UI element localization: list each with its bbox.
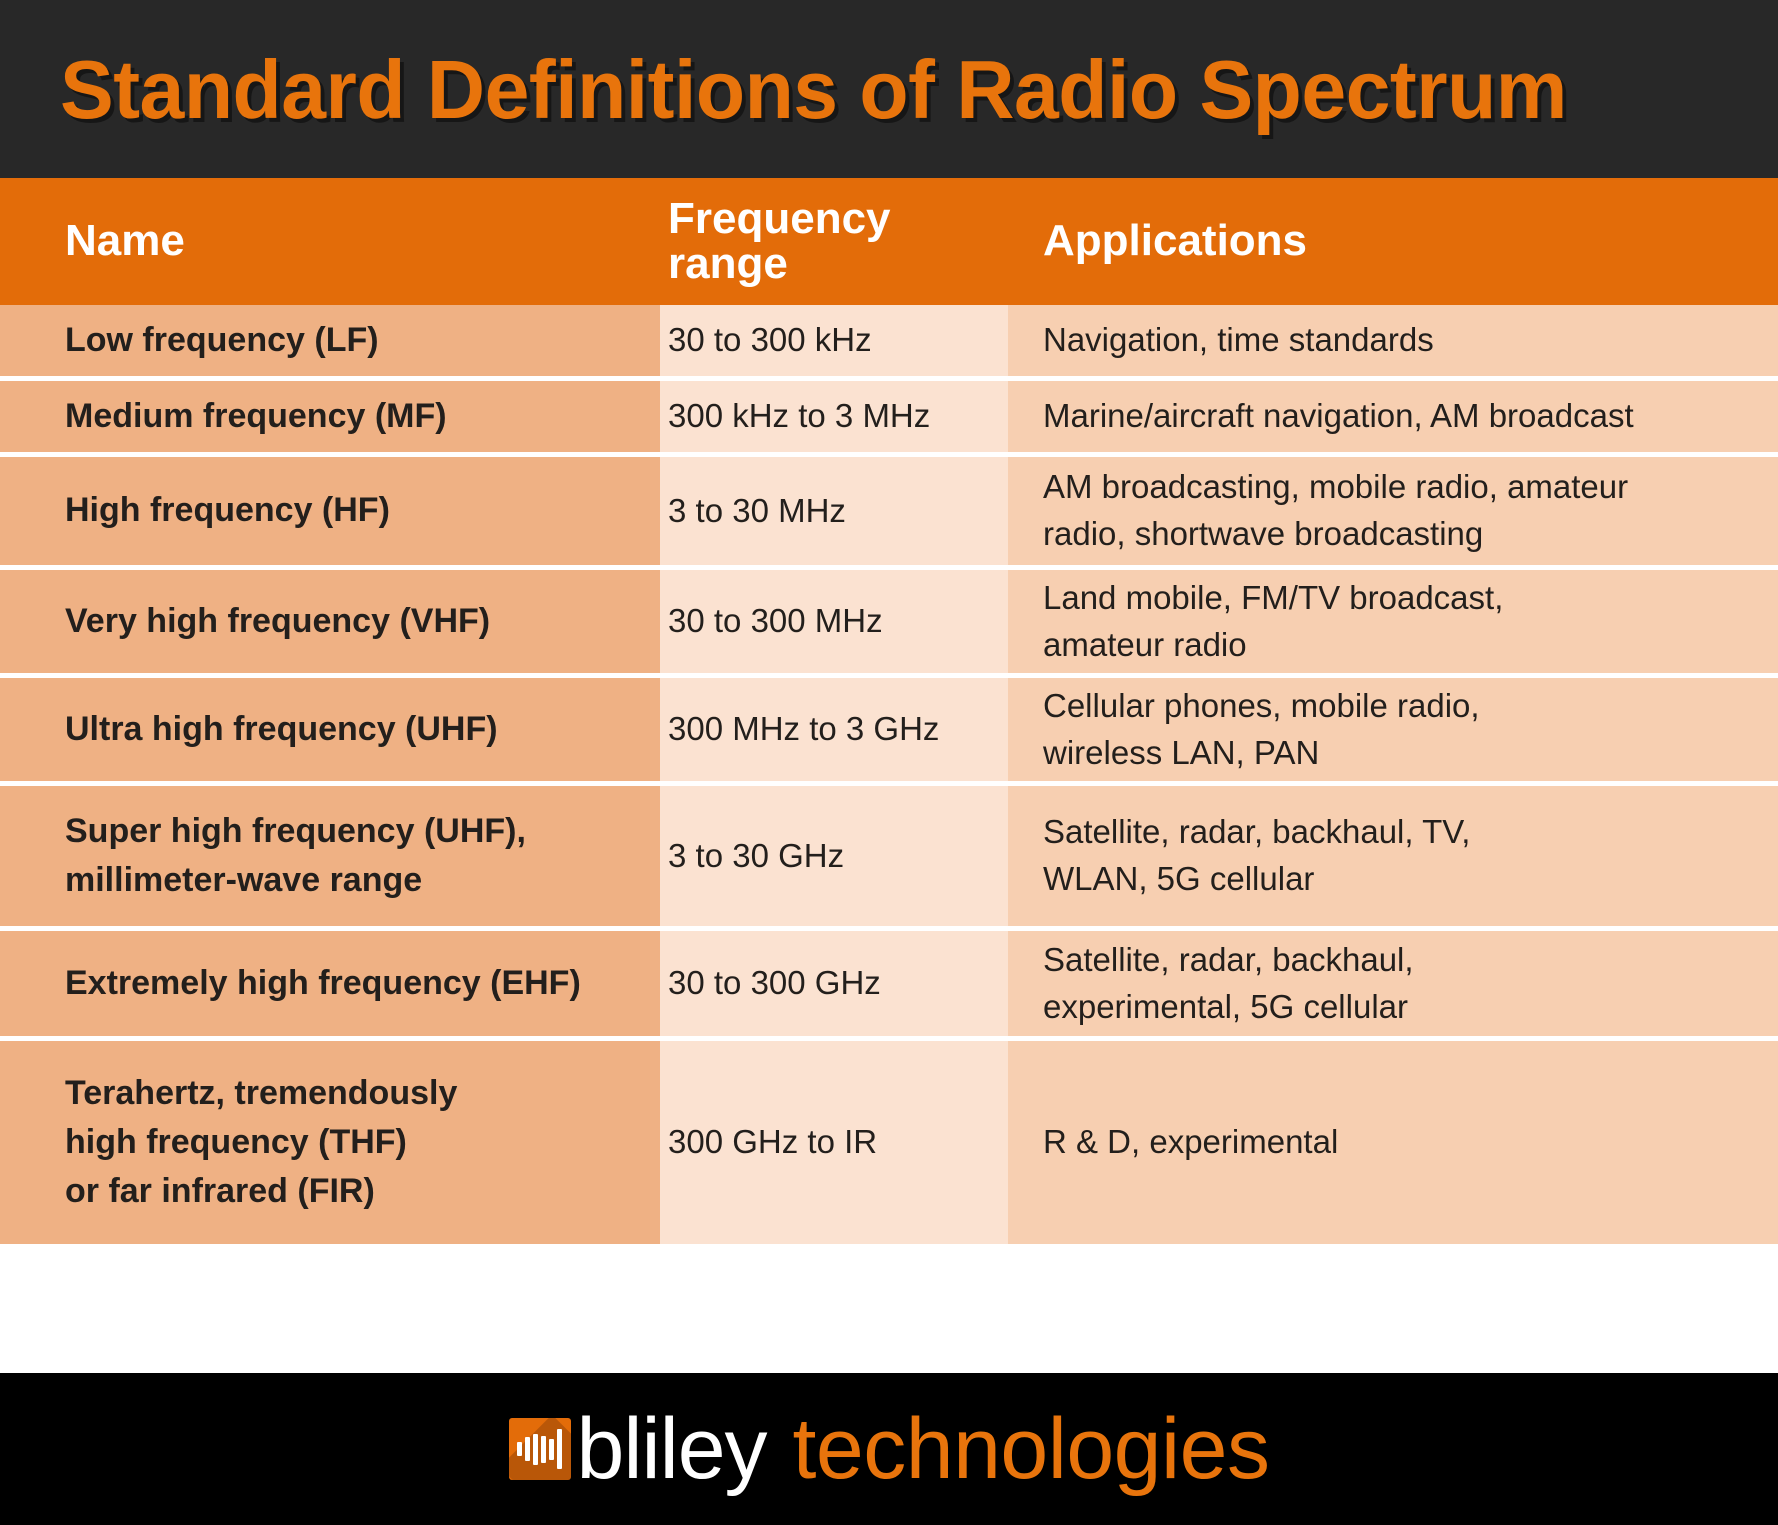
table-header-row: Name Frequency range Applications bbox=[0, 178, 1778, 305]
name-line: Extremely high frequency (EHF) bbox=[65, 959, 642, 1008]
app-line: Satellite, radar, backhaul, TV, bbox=[1043, 809, 1748, 856]
page-title: Standard Definitions of Radio Spectrum bbox=[60, 48, 1567, 131]
spectrum-table: Name Frequency range Applications Low fr… bbox=[0, 178, 1778, 1373]
bliley-waveform-icon bbox=[509, 1418, 571, 1480]
radio-spectrum-infographic: Standard Definitions of Radio Spectrum N… bbox=[0, 0, 1778, 1525]
brand-name: bliley bbox=[577, 1406, 767, 1492]
cell-frequency-range: 3 to 30 MHz bbox=[660, 457, 1008, 565]
table-row: Low frequency (LF) 30 to 300 kHz Navigat… bbox=[0, 305, 1778, 381]
app-line: Marine/aircraft navigation, AM broadcast bbox=[1043, 393, 1748, 440]
app-line: radio, shortwave broadcasting bbox=[1043, 511, 1748, 558]
app-line: Land mobile, FM/TV broadcast, bbox=[1043, 575, 1748, 622]
table-row: Terahertz, tremendously high frequency (… bbox=[0, 1041, 1778, 1244]
cell-applications: AM broadcasting, mobile radio, amateur r… bbox=[1008, 457, 1778, 565]
name-line: Medium frequency (MF) bbox=[65, 392, 642, 441]
column-header-name: Name bbox=[0, 178, 660, 305]
cell-frequency-range: 3 to 30 GHz bbox=[660, 786, 1008, 926]
column-header-frequency-line2: range bbox=[668, 242, 1008, 287]
name-line: High frequency (HF) bbox=[65, 486, 642, 535]
cell-frequency-range: 30 to 300 GHz bbox=[660, 931, 1008, 1036]
cell-applications: Land mobile, FM/TV broadcast, amateur ra… bbox=[1008, 570, 1778, 673]
name-line: millimeter-wave range bbox=[65, 856, 642, 905]
name-line: Terahertz, tremendously bbox=[65, 1069, 642, 1118]
name-line: Super high frequency (UHF), bbox=[65, 807, 642, 856]
waveform-bars bbox=[517, 1429, 562, 1469]
cell-frequency-range: 300 MHz to 3 GHz bbox=[660, 678, 1008, 781]
name-line: or far infrared (FIR) bbox=[65, 1167, 642, 1216]
table-row: Super high frequency (UHF), millimeter-w… bbox=[0, 786, 1778, 931]
table-row: Ultra high frequency (UHF) 300 MHz to 3 … bbox=[0, 678, 1778, 786]
cell-name: Terahertz, tremendously high frequency (… bbox=[0, 1041, 660, 1244]
app-line: Navigation, time standards bbox=[1043, 317, 1748, 364]
cell-applications: R & D, experimental bbox=[1008, 1041, 1778, 1244]
bliley-logo: bliley technologies bbox=[509, 1406, 1270, 1492]
cell-applications: Cellular phones, mobile radio, wireless … bbox=[1008, 678, 1778, 781]
brand-suffix: technologies bbox=[793, 1406, 1270, 1492]
app-line: R & D, experimental bbox=[1043, 1119, 1748, 1166]
table-row: High frequency (HF) 3 to 30 MHz AM broad… bbox=[0, 457, 1778, 570]
table-row: Extremely high frequency (EHF) 30 to 300… bbox=[0, 931, 1778, 1041]
cell-name: Ultra high frequency (UHF) bbox=[0, 678, 660, 781]
app-line: Satellite, radar, backhaul, bbox=[1043, 937, 1748, 984]
table-row: Very high frequency (VHF) 30 to 300 MHz … bbox=[0, 570, 1778, 678]
name-line: Ultra high frequency (UHF) bbox=[65, 705, 642, 754]
cell-frequency-range: 300 kHz to 3 MHz bbox=[660, 381, 1008, 452]
name-line: Low frequency (LF) bbox=[65, 316, 642, 365]
column-header-frequency-line1: Frequency bbox=[668, 197, 1008, 242]
cell-frequency-range: 30 to 300 kHz bbox=[660, 305, 1008, 376]
column-header-frequency-range: Frequency range bbox=[660, 178, 1008, 305]
cell-applications: Satellite, radar, backhaul, TV, WLAN, 5G… bbox=[1008, 786, 1778, 926]
cell-name: High frequency (HF) bbox=[0, 457, 660, 565]
title-bar: Standard Definitions of Radio Spectrum bbox=[0, 0, 1778, 178]
app-line: experimental, 5G cellular bbox=[1043, 984, 1748, 1031]
cell-name: Extremely high frequency (EHF) bbox=[0, 931, 660, 1036]
app-line: Cellular phones, mobile radio, bbox=[1043, 683, 1748, 730]
column-header-applications: Applications bbox=[1008, 178, 1778, 305]
cell-applications: Marine/aircraft navigation, AM broadcast bbox=[1008, 381, 1778, 452]
cell-name: Very high frequency (VHF) bbox=[0, 570, 660, 673]
table-row: Medium frequency (MF) 300 kHz to 3 MHz M… bbox=[0, 381, 1778, 457]
name-line: high frequency (THF) bbox=[65, 1118, 642, 1167]
cell-name: Medium frequency (MF) bbox=[0, 381, 660, 452]
footer-bar: bliley technologies bbox=[0, 1373, 1778, 1525]
app-line: wireless LAN, PAN bbox=[1043, 730, 1748, 777]
name-line: Very high frequency (VHF) bbox=[65, 597, 642, 646]
app-line: amateur radio bbox=[1043, 622, 1748, 669]
app-line: AM broadcasting, mobile radio, amateur bbox=[1043, 464, 1748, 511]
cell-applications: Navigation, time standards bbox=[1008, 305, 1778, 376]
app-line: WLAN, 5G cellular bbox=[1043, 856, 1748, 903]
cell-frequency-range: 300 GHz to IR bbox=[660, 1041, 1008, 1244]
cell-frequency-range: 30 to 300 MHz bbox=[660, 570, 1008, 673]
cell-name: Super high frequency (UHF), millimeter-w… bbox=[0, 786, 660, 926]
cell-applications: Satellite, radar, backhaul, experimental… bbox=[1008, 931, 1778, 1036]
cell-name: Low frequency (LF) bbox=[0, 305, 660, 376]
